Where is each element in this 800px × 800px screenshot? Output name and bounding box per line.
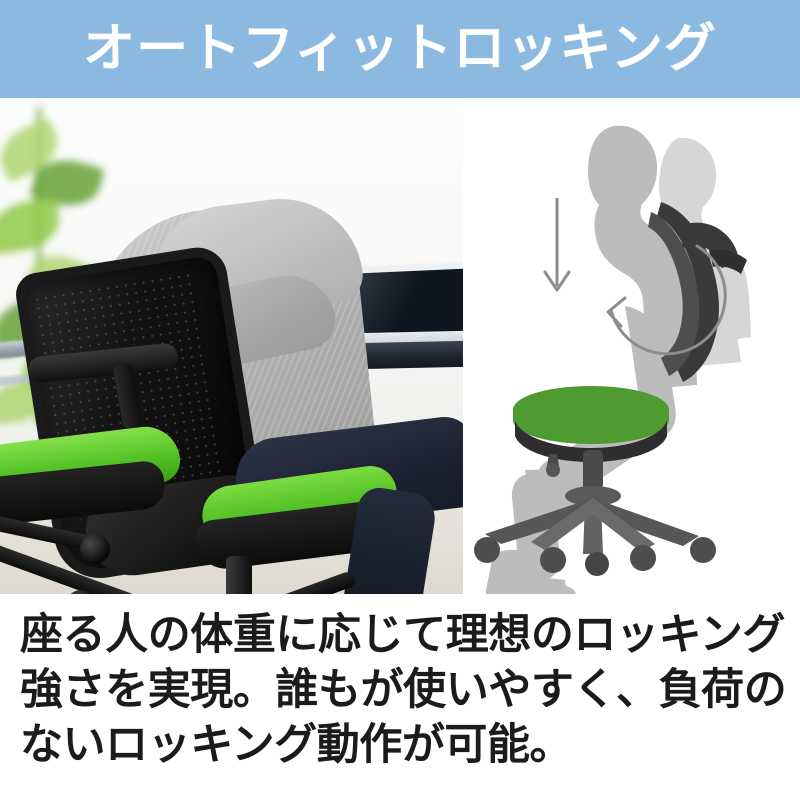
caption-line-1: 座る人の体重に応じて理想のロッキング [20,608,782,663]
chair-caster [690,537,716,563]
caption-line-2: 強さを実現。誰もが使いやすく、負荷の [20,663,782,718]
product-feature-banner: オートフィットロッキング [0,0,800,800]
chair-gas-cylinder [226,556,252,594]
page-title: オートフィットロッキング [83,23,717,75]
caption-line-3: ないロッキング動作が可能。 [20,718,782,773]
chair-tension-dial [546,463,560,477]
chair-caster [474,537,500,563]
diagram-canvas [465,98,800,594]
product-photo [0,98,463,594]
header-band: オートフィットロッキング [0,0,800,98]
chair-caster [630,545,656,571]
chair-gas-cylinder [583,450,603,490]
chair-seat-side [513,386,669,444]
photo-scene [0,98,463,594]
media-row [0,98,800,595]
chair-caster [540,547,566,573]
chair-caster [585,552,609,576]
caption-block: 座る人の体重に応じて理想のロッキング 強さを実現。誰もが使いやすく、負荷の ない… [0,600,800,800]
down-arrow-icon [545,198,569,290]
mechanism-diagram [465,98,800,594]
foreground-chair-caster [80,534,110,564]
